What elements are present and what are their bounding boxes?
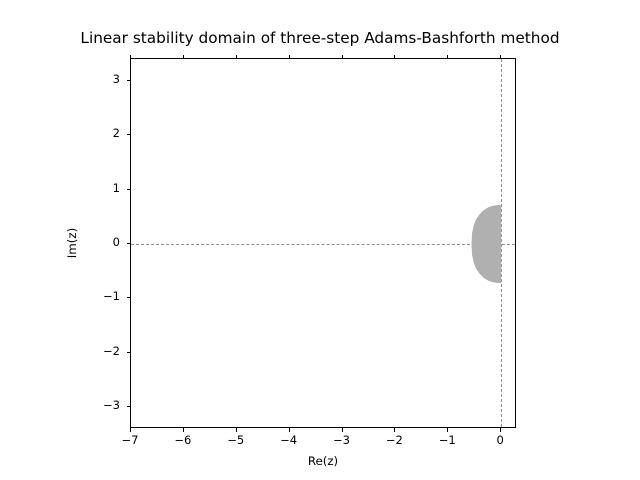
y-tick-mark: [127, 80, 131, 81]
y-tick-mark: [127, 406, 131, 407]
x-tick-mark-top: [394, 55, 395, 59]
x-tick-mark: [394, 428, 395, 432]
y-tick-label: −1: [80, 289, 120, 303]
x-tick-mark-top: [183, 55, 184, 59]
x-tick-mark: [447, 428, 448, 432]
x-tick-mark-top: [500, 55, 501, 59]
stability-domain-shape: [472, 205, 502, 283]
y-tick-label: 2: [80, 126, 120, 140]
x-tick-label: −6: [163, 433, 203, 447]
x-tick-label: −5: [216, 433, 256, 447]
x-tick-mark: [342, 428, 343, 432]
y-tick-label: 3: [80, 72, 120, 86]
x-tick-mark-top: [236, 55, 237, 59]
x-axis-label: Re(z): [130, 454, 516, 468]
y-tick-mark: [127, 134, 131, 135]
x-tick-label: −3: [322, 433, 362, 447]
y-axis-label: Im(z): [65, 228, 79, 258]
y-tick-label: −3: [80, 398, 120, 412]
figure-canvas: Linear stability domain of three-step Ad…: [0, 0, 640, 480]
y-tick-mark: [127, 189, 131, 190]
y-tick-label: 0: [80, 235, 120, 249]
x-tick-mark: [130, 428, 131, 432]
x-tick-label: −2: [374, 433, 414, 447]
x-tick-mark-top: [342, 55, 343, 59]
x-tick-mark: [183, 428, 184, 432]
y-tick-mark: [127, 297, 131, 298]
x-tick-label: −4: [269, 433, 309, 447]
x-tick-mark-top: [447, 55, 448, 59]
x-tick-label: −1: [427, 433, 467, 447]
stability-region-plot: [131, 59, 516, 428]
plot-area: [130, 58, 516, 428]
y-tick-label: 1: [80, 181, 120, 195]
y-tick-mark: [127, 243, 131, 244]
x-tick-mark-top: [130, 55, 131, 59]
x-tick-mark: [500, 428, 501, 432]
y-tick-mark: [127, 352, 131, 353]
x-tick-mark: [289, 428, 290, 432]
page-title: Linear stability domain of three-step Ad…: [0, 29, 640, 47]
x-tick-label: 0: [480, 433, 520, 447]
y-tick-label: −2: [80, 344, 120, 358]
x-tick-mark-top: [289, 55, 290, 59]
x-tick-label: −7: [110, 433, 150, 447]
x-tick-mark: [236, 428, 237, 432]
